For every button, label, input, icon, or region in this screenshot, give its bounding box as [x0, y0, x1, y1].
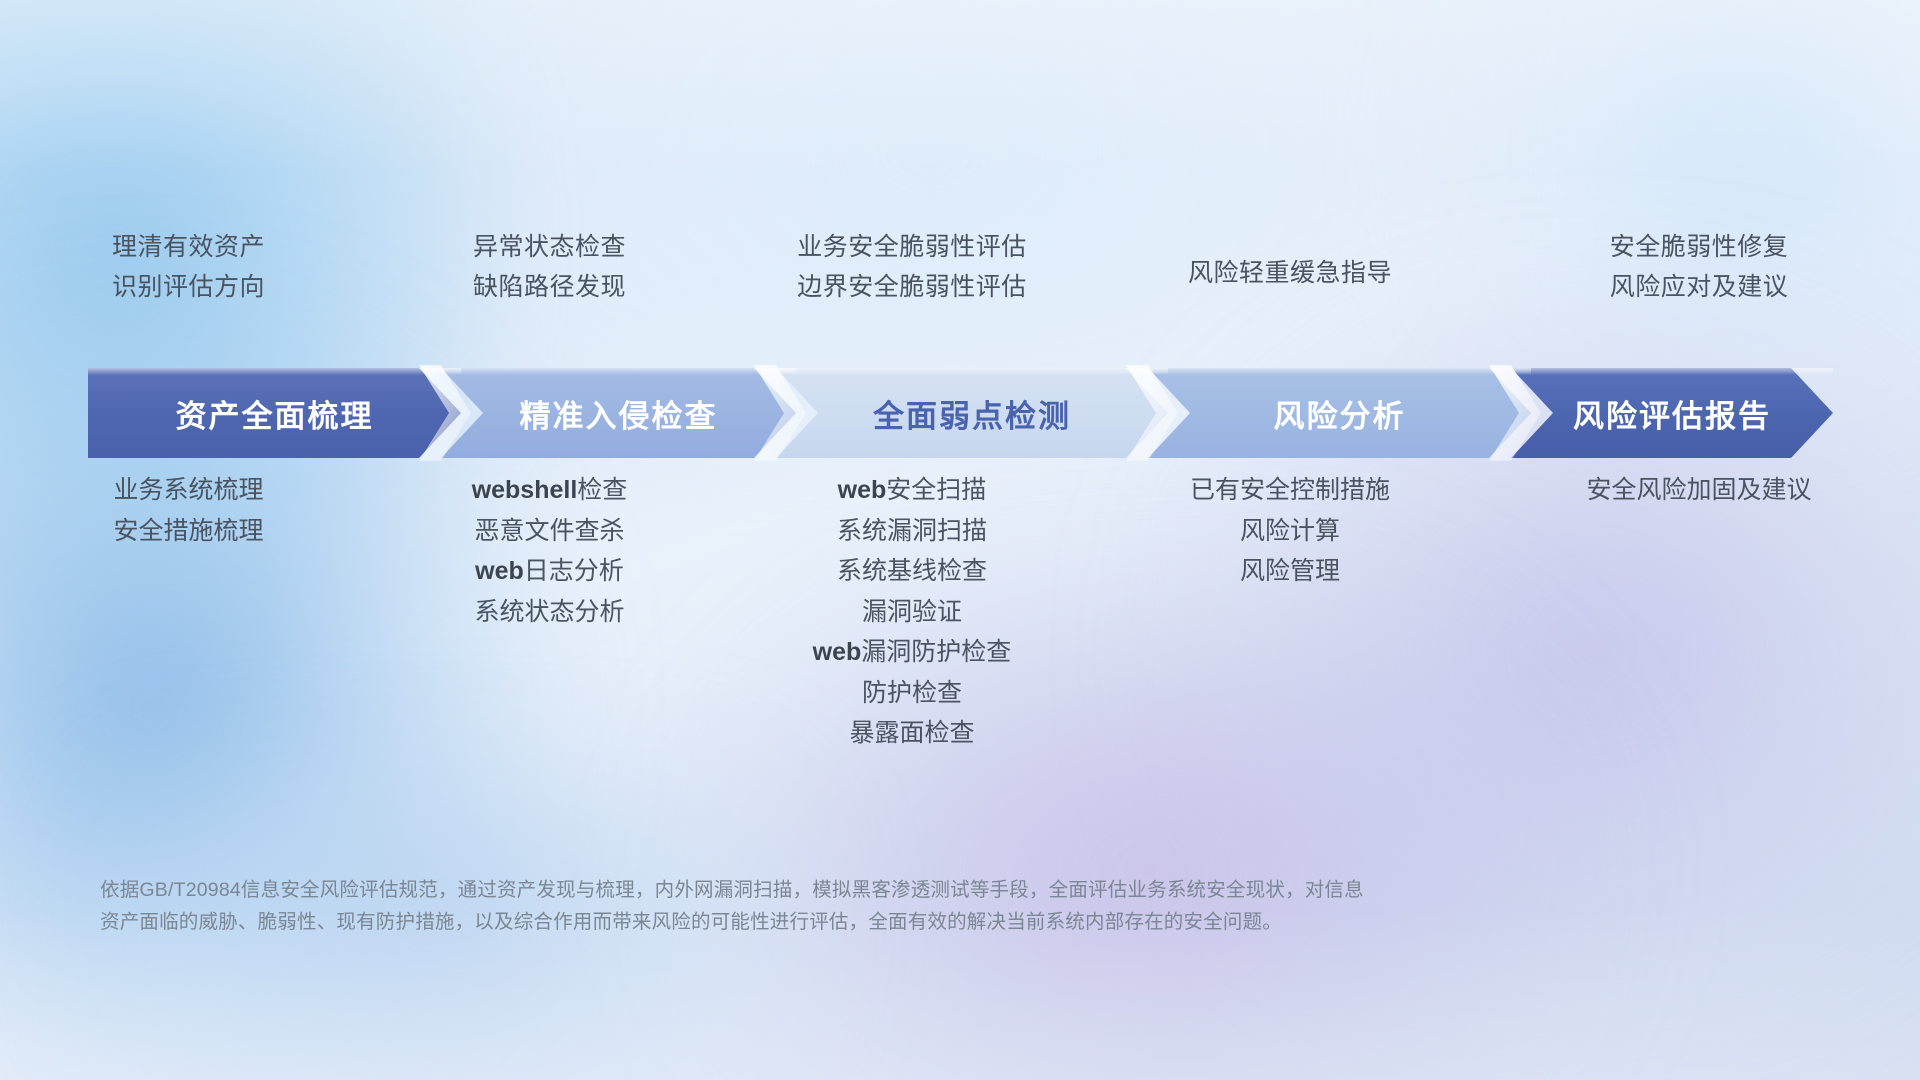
process-arrow-band: 资产全面梳理 精准入侵检查 全面弱点检测 风险分析 风险评估报告: [88, 368, 1833, 458]
item-text: 风险管理: [1240, 557, 1340, 585]
process-diagram: 理清有效资产 识别评估方向 异常状态检查 缺陷路径发现 业务安全脆弱性评估 边界…: [0, 0, 1920, 1080]
list-item: 系统基线检查: [722, 551, 1102, 592]
list-item: 恶意文件查杀: [377, 511, 722, 552]
bottom-items-row: 业务系统梳理 安全措施梳理 webshell检查 恶意文件查杀 web日志分析 …: [0, 470, 1920, 754]
item-text: 风险计算: [1240, 517, 1340, 545]
list-item: web安全扫描: [722, 470, 1102, 511]
item-bold-prefix: web: [838, 476, 887, 504]
list-item: web漏洞防护检查: [722, 632, 1102, 673]
list-item: 风险计算: [1102, 511, 1478, 552]
stage-arrow-label: 精准入侵检查: [520, 391, 718, 436]
item-text: 业务系统梳理: [113, 476, 263, 504]
item-text: 检查: [577, 476, 627, 504]
item-text: 安全措施梳理: [113, 517, 263, 545]
item-text: 已有安全控制措施: [1190, 476, 1390, 504]
top-label: 安全脆弱性修复: [1478, 228, 1920, 268]
item-bold-prefix: webshell: [472, 476, 578, 504]
stage-arrow-3[interactable]: 全面弱点检测: [776, 368, 1168, 458]
stage-arrow-label: 资产全面梳理: [176, 391, 374, 436]
item-text: 日志分析: [524, 557, 624, 585]
stage-arrow-label: 风险评估报告: [1573, 391, 1771, 436]
list-item: 安全措施梳理: [0, 511, 377, 552]
list-item: 安全风险加固及建议: [1478, 470, 1920, 511]
item-text: 系统漏洞扫描: [837, 517, 987, 545]
footer-description: 依据GB/T20984信息安全风险评估规范，通过资产发现与梳理，内外网漏洞扫描，…: [100, 875, 1630, 938]
top-labels-stage-4: 风险轻重缓急指导: [1102, 228, 1478, 307]
item-text: 漏洞验证: [862, 598, 962, 626]
list-item: 风险管理: [1102, 551, 1478, 592]
footer-line-2: 资产面临的威胁、脆弱性、现有防护措施，以及综合作用而带来风险的可能性进行评估，全…: [100, 907, 1630, 939]
list-item: 已有安全控制措施: [1102, 470, 1478, 511]
list-item: 系统状态分析: [377, 592, 722, 633]
item-text: 恶意文件查杀: [474, 517, 624, 545]
item-text: 安全扫描: [886, 476, 986, 504]
stage-arrow-5[interactable]: 风险评估报告: [1511, 368, 1833, 458]
top-label: 边界安全脆弱性评估: [722, 268, 1102, 308]
top-labels-row: 理清有效资产 识别评估方向 异常状态检查 缺陷路径发现 业务安全脆弱性评估 边界…: [0, 228, 1920, 307]
item-text: 安全风险加固及建议: [1586, 476, 1811, 504]
top-label: 缺陷路径发现: [377, 268, 722, 308]
bottom-items-stage-5: 安全风险加固及建议: [1478, 470, 1920, 754]
item-text: 漏洞防护检查: [861, 638, 1011, 666]
bottom-items-stage-4: 已有安全控制措施 风险计算 风险管理: [1102, 470, 1478, 754]
top-labels-stage-5: 安全脆弱性修复 风险应对及建议: [1478, 228, 1920, 307]
top-label: 风险应对及建议: [1478, 268, 1920, 308]
stage-arrow-4[interactable]: 风险分析: [1148, 368, 1531, 458]
item-bold-prefix: web: [475, 557, 524, 585]
list-item: webshell检查: [377, 470, 722, 511]
list-item: 系统漏洞扫描: [722, 511, 1102, 552]
bottom-items-stage-2: webshell检查 恶意文件查杀 web日志分析 系统状态分析: [377, 470, 722, 754]
footer-line-1: 依据GB/T20984信息安全风险评估规范，通过资产发现与梳理，内外网漏洞扫描，…: [100, 875, 1630, 907]
list-item: 防护检查: [722, 673, 1102, 714]
top-label: 业务安全脆弱性评估: [722, 228, 1102, 268]
top-label: 识别评估方向: [0, 268, 377, 308]
stage-arrow-1[interactable]: 资产全面梳理: [88, 368, 461, 458]
top-labels-stage-2: 异常状态检查 缺陷路径发现: [377, 228, 722, 307]
item-text: 防护检查: [862, 679, 962, 707]
item-text: 系统状态分析: [474, 598, 624, 626]
top-label: 异常状态检查: [377, 228, 722, 268]
stage-arrow-2[interactable]: 精准入侵检查: [441, 368, 796, 458]
top-labels-stage-3: 业务安全脆弱性评估 边界安全脆弱性评估: [722, 228, 1102, 307]
bottom-items-stage-1: 业务系统梳理 安全措施梳理: [0, 470, 377, 754]
list-item: 暴露面检查: [722, 713, 1102, 754]
item-text: 系统基线检查: [837, 557, 987, 585]
top-labels-stage-1: 理清有效资产 识别评估方向: [0, 228, 377, 307]
list-item: 业务系统梳理: [0, 470, 377, 511]
item-text: 暴露面检查: [849, 719, 974, 747]
top-label: 理清有效资产: [0, 228, 377, 268]
stage-arrow-label: 全面弱点检测: [873, 391, 1071, 436]
stage-arrow-label: 风险分析: [1274, 391, 1406, 436]
list-item: 漏洞验证: [722, 592, 1102, 633]
item-bold-prefix: web: [813, 638, 862, 666]
bottom-items-stage-3: web安全扫描 系统漏洞扫描 系统基线检查 漏洞验证 web漏洞防护检查 防护检…: [722, 470, 1102, 754]
top-label: 风险轻重缓急指导: [1102, 228, 1478, 294]
list-item: web日志分析: [377, 551, 722, 592]
